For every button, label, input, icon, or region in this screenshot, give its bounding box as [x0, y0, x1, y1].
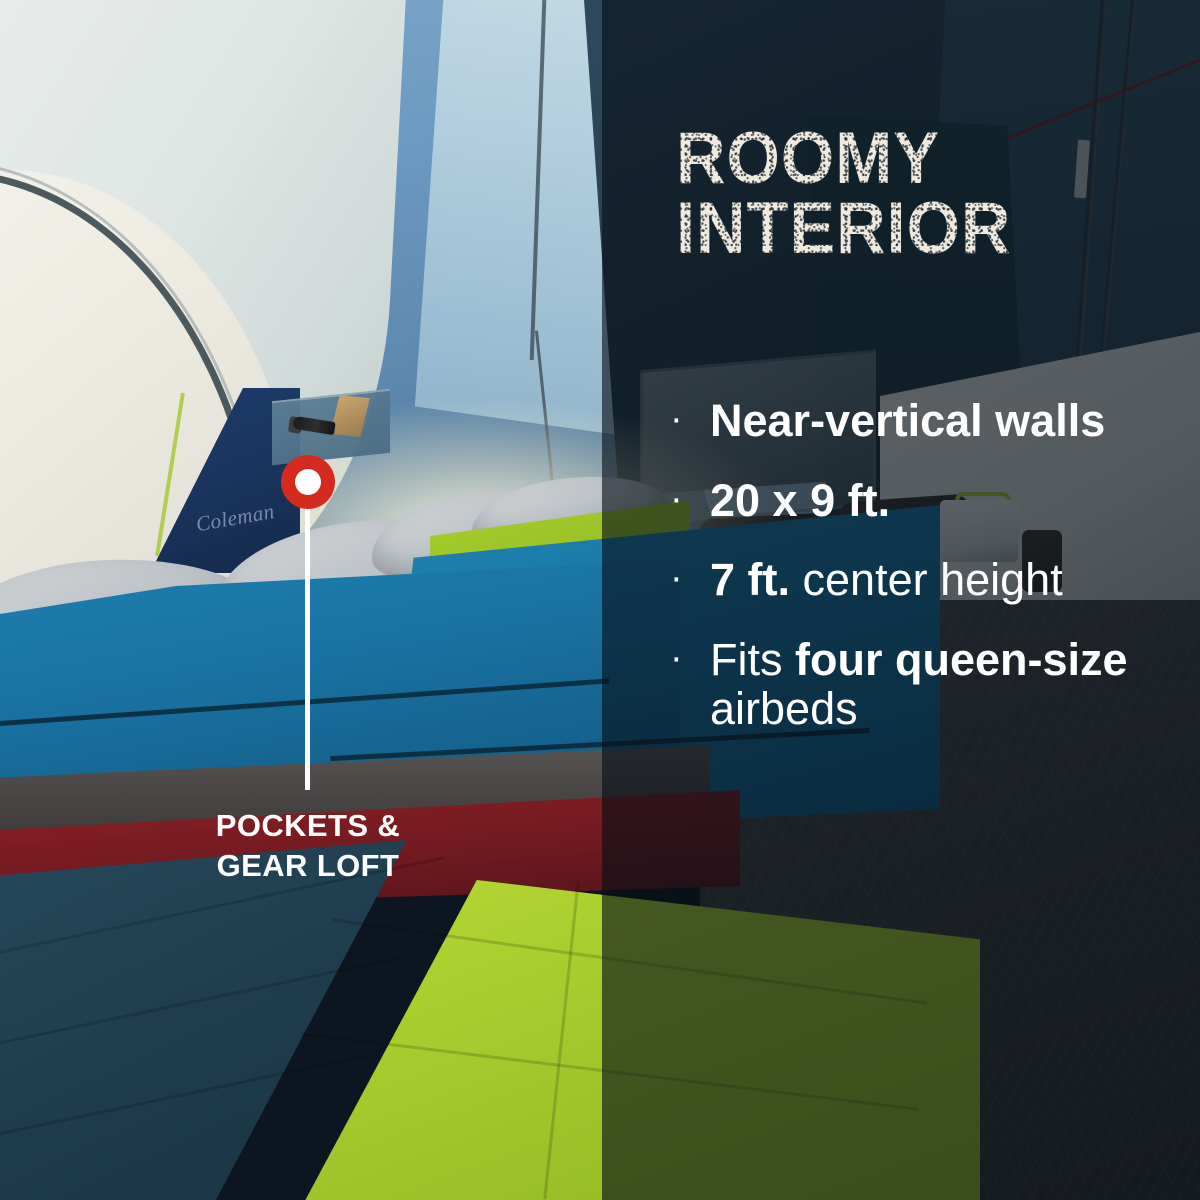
- list-item: · Near-vertical walls: [670, 396, 1190, 446]
- list-item: · 20 x 9 ft.: [670, 476, 1190, 526]
- middot-bullet-icon: ·: [670, 635, 710, 683]
- list-item: · 7 ft. center height: [670, 555, 1190, 605]
- feature-bullet-list: · Near-vertical walls · 20 x 9 ft. · 7 f…: [670, 396, 1190, 764]
- target-dot-center: [295, 469, 321, 495]
- product-feature-image: Coleman POCKETS &: [0, 0, 1200, 1200]
- list-item-label: 7 ft. center height: [710, 555, 1190, 605]
- list-item-label: Fits four queen-size airbeds: [710, 635, 1190, 734]
- list-item: · Fits four queen-size airbeds: [670, 635, 1190, 734]
- headline-line-2: INTERIOR: [676, 194, 1011, 264]
- page-title: ROOMY INTERIOR: [676, 124, 1011, 264]
- vertical-leader-line-icon: [305, 500, 310, 790]
- callout-label: POCKETS & GEAR LOFT: [58, 806, 558, 885]
- list-item-label: 20 x 9 ft.: [710, 476, 1190, 526]
- callout-label-line-1: POCKETS &: [58, 806, 558, 846]
- middot-bullet-icon: ·: [670, 396, 710, 444]
- headline-line-1: ROOMY: [676, 124, 1011, 194]
- middot-bullet-icon: ·: [670, 476, 710, 524]
- list-item-label: Near-vertical walls: [710, 396, 1190, 446]
- middot-bullet-icon: ·: [670, 555, 710, 603]
- target-dot-marker-icon: [281, 455, 335, 509]
- callout-label-line-2: GEAR LOFT: [58, 846, 558, 886]
